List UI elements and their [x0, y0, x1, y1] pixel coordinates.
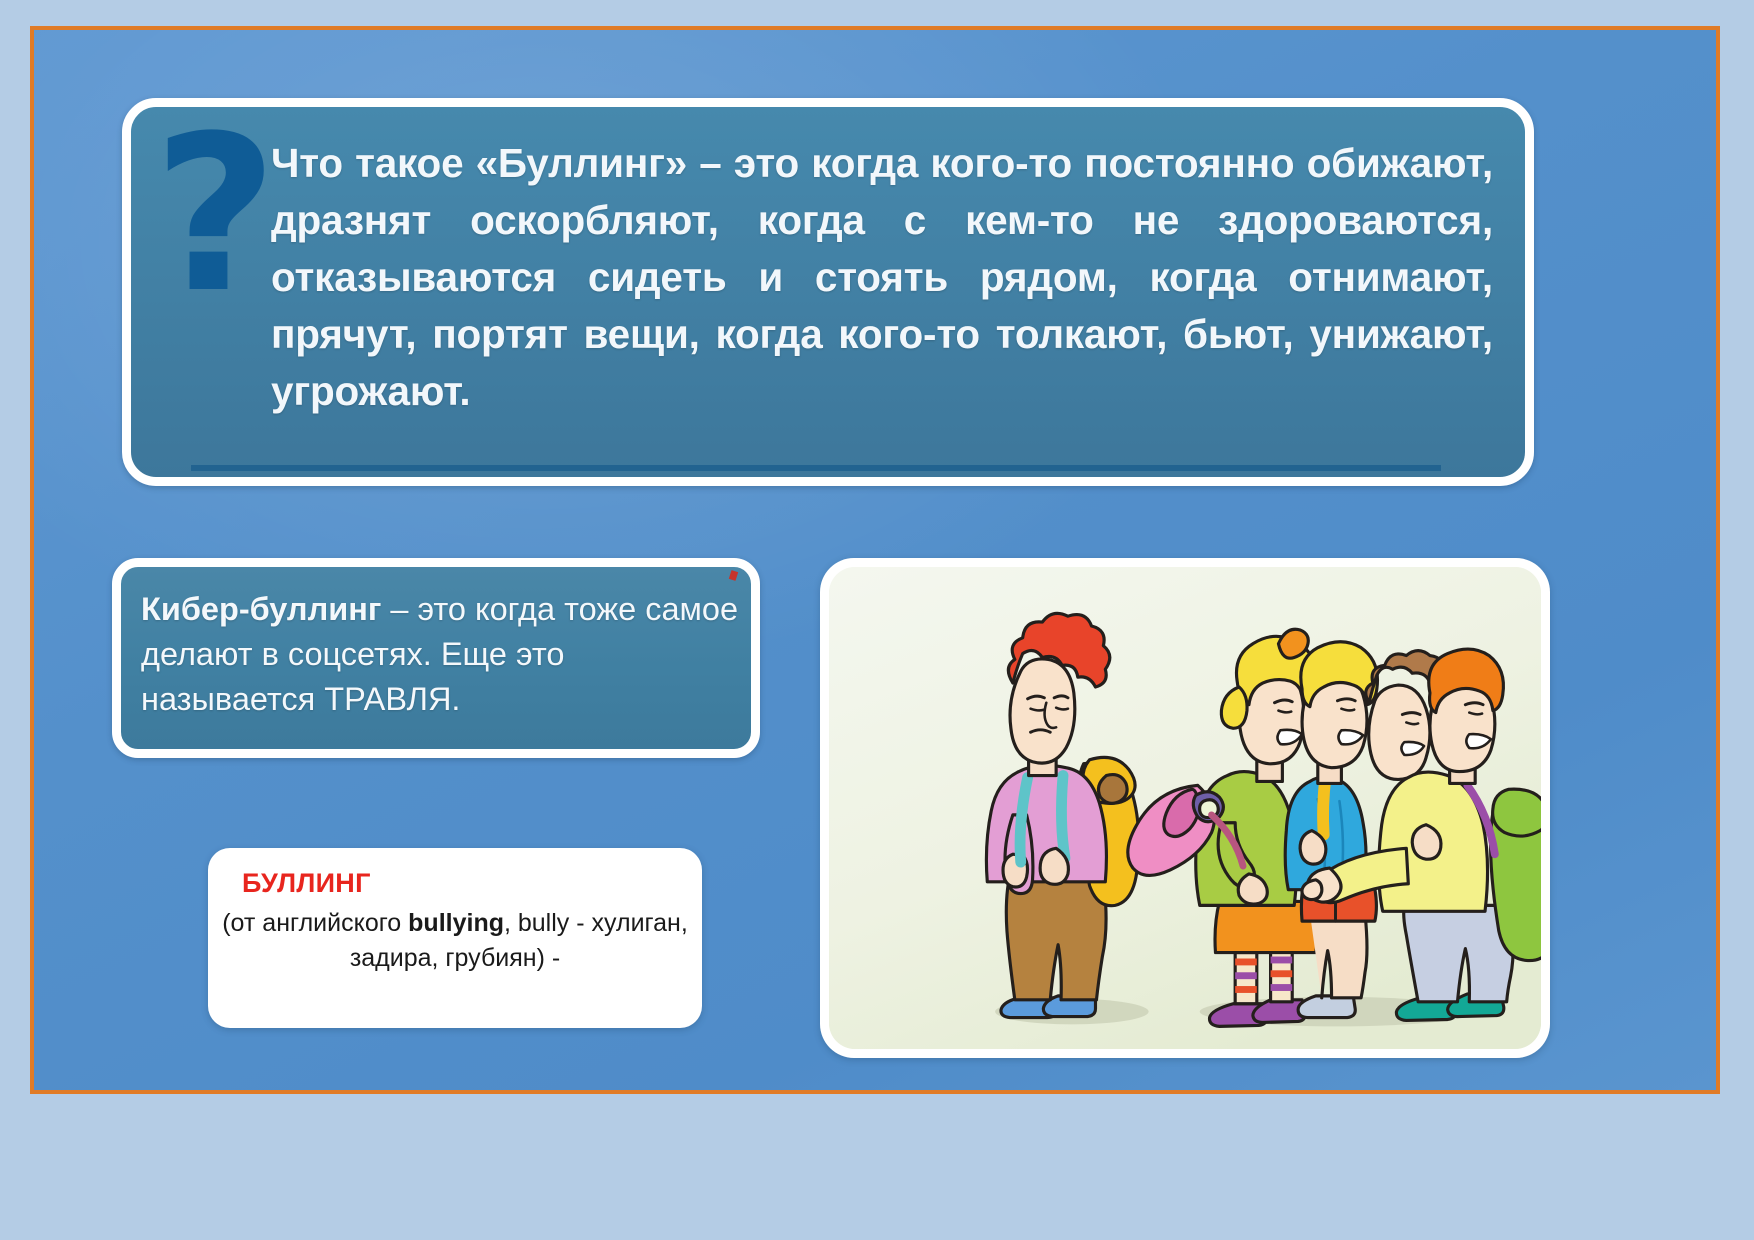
glossary-body: (от английского bullying, bully - хулига… [222, 906, 688, 976]
red-mark-icon [729, 570, 738, 581]
cyberbullying-text: Кибер-буллинг – это когда тоже самое дел… [141, 587, 741, 722]
glossary-line1-prefix: (от английского [222, 909, 408, 937]
glossary-line1-suffix: , bully - [504, 909, 585, 937]
bullying-definition-text: Что такое «Буллинг» – это когда кого-то … [271, 135, 1493, 420]
slide-background: ? Что такое «Буллинг» – это когда кого-т… [34, 30, 1716, 1090]
card-underline [191, 465, 1441, 471]
slide-frame: ? Что такое «Буллинг» – это когда кого-т… [0, 0, 1754, 1240]
glossary-line1-bold: bullying [408, 909, 504, 937]
bullying-definition-card: ? Что такое «Буллинг» – это когда кого-т… [122, 98, 1534, 486]
glossary-title: БУЛЛИНГ [242, 866, 688, 900]
question-mark-icon: ? [153, 125, 278, 305]
glossary-card: БУЛЛИНГ (от английского bullying, bully … [208, 848, 702, 1028]
bullying-scene-illustration [829, 567, 1541, 1049]
bullying-definition-lead: Что такое «Буллинг» [271, 140, 687, 186]
illustration-card [820, 558, 1550, 1058]
cyberbullying-card: Кибер-буллинг – это когда тоже самое дел… [112, 558, 760, 758]
cyberbullying-lead: Кибер-буллинг [141, 591, 381, 627]
slide-border: ? Что такое «Буллинг» – это когда кого-т… [30, 26, 1720, 1094]
illustration-canvas [829, 567, 1541, 1049]
